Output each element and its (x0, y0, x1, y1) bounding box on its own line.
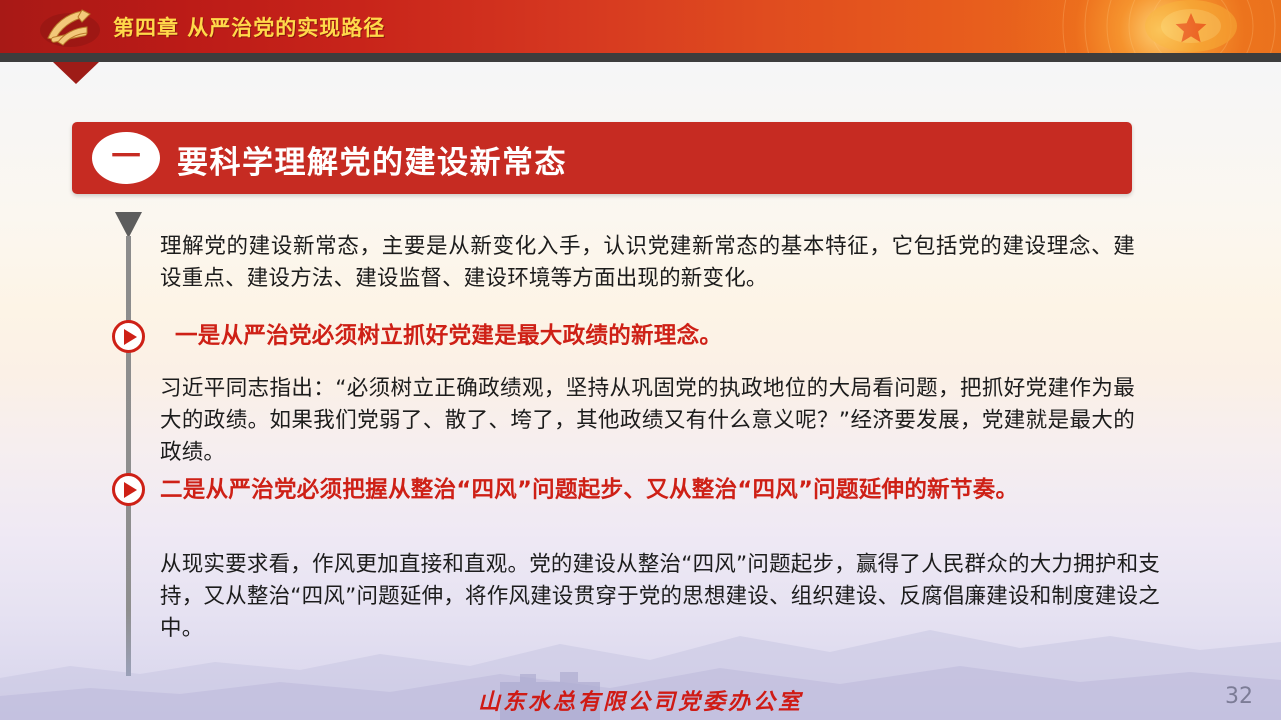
point-heading-1: 一是从严治党必须树立抓好党建是最大政绩的新理念。 (175, 320, 1135, 353)
slide-header-banner: 第四章 从严治党的实现路径 (0, 0, 1281, 53)
intro-paragraph: 理解党的建设新常态，主要是从新变化入手，认识党建新常态的基本特征，它包括党的建设… (160, 231, 1135, 295)
play-circle-icon (112, 320, 145, 353)
header-pointer-tab (53, 62, 99, 84)
chapter-title: 第四章 从严治党的实现路径 (113, 12, 385, 42)
point-body-2: 从现实要求看，作风更加直接和直观。党的建设从整治“四风”问题起步，赢得了人民群众… (160, 549, 1160, 645)
header-bottom-rule (0, 53, 1281, 62)
page-number: 32 (1225, 684, 1253, 709)
section-title: 要科学理解党的建设新常态 (177, 137, 567, 182)
timeline-arrow-icon (115, 212, 142, 238)
point-heading-2: 二是从严治党必须把握从整治“四风”问题起步、又从整治“四风”问题延伸的新节奏。 (160, 474, 1165, 507)
party-emblem-icon (38, 4, 102, 50)
presentation-slide: 第四章 从严治党的实现路径 一 要科学理解党的建设新常态 理解党的建设新常态，主… (0, 0, 1281, 720)
play-circle-icon (112, 473, 145, 506)
radial-rings-decoration (861, 0, 1281, 53)
section-badge: 一 (92, 132, 160, 184)
section-badge-number: 一 (92, 132, 160, 184)
point-body-1: 习近平同志指出：“必须树立正确政绩观，坚持从巩固党的执政地位的大局看问题，把抓好… (160, 373, 1135, 469)
section-title-bar: 一 要科学理解党的建设新常态 (72, 122, 1132, 194)
timeline-vertical-line (126, 236, 131, 676)
footer-organization: 山东水总有限公司党委办公室 (0, 684, 1281, 716)
